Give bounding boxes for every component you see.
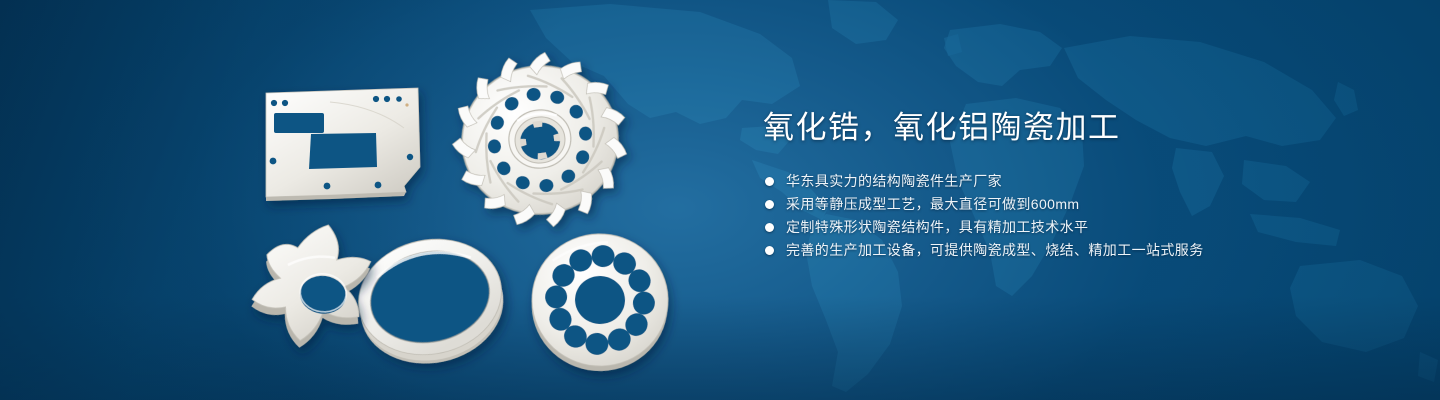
- dot-icon: [765, 246, 774, 255]
- list-item: 采用等静压成型工艺，最大直径可做到600mm: [763, 193, 1383, 216]
- product-photo-cluster: [0, 0, 720, 400]
- list-item: 定制特殊形状陶瓷结构件，具有精加工技术水平: [763, 216, 1383, 239]
- dot-icon: [765, 177, 774, 186]
- dot-icon: [765, 200, 774, 209]
- list-item-label: 定制特殊形状陶瓷结构件，具有精加工技术水平: [786, 219, 1088, 235]
- list-item-label: 华东具实力的结构陶瓷件生产厂家: [786, 173, 1002, 189]
- ceramic-plate: [266, 88, 420, 201]
- list-item-label: 完善的生产加工设备，可提供陶瓷成型、烧结、精加工一站式服务: [786, 242, 1204, 258]
- ceramic-impeller: [441, 41, 640, 239]
- feature-list: 华东具实力的结构陶瓷件生产厂家 采用等静压成型工艺，最大直径可做到600mm 定…: [763, 170, 1383, 262]
- banner-copy: 氧化锆，氧化铝陶瓷加工 华东具实力的结构陶瓷件生产厂家 采用等静压成型工艺，最大…: [763, 108, 1383, 262]
- dot-icon: [765, 223, 774, 232]
- ceramic-ring: [348, 226, 514, 376]
- list-item: 华东具实力的结构陶瓷件生产厂家: [763, 170, 1383, 193]
- ceramic-perforated-disc: [527, 229, 672, 375]
- list-item: 完善的生产加工设备，可提供陶瓷成型、烧结、精加工一站式服务: [763, 239, 1383, 262]
- list-item-label: 采用等静压成型工艺，最大直径可做到600mm: [786, 196, 1079, 212]
- hero-banner: 氧化锆，氧化铝陶瓷加工 华东具实力的结构陶瓷件生产厂家 采用等静压成型工艺，最大…: [0, 0, 1440, 400]
- page-title: 氧化锆，氧化铝陶瓷加工: [763, 108, 1383, 148]
- ceramic-cross-vane: [248, 218, 374, 354]
